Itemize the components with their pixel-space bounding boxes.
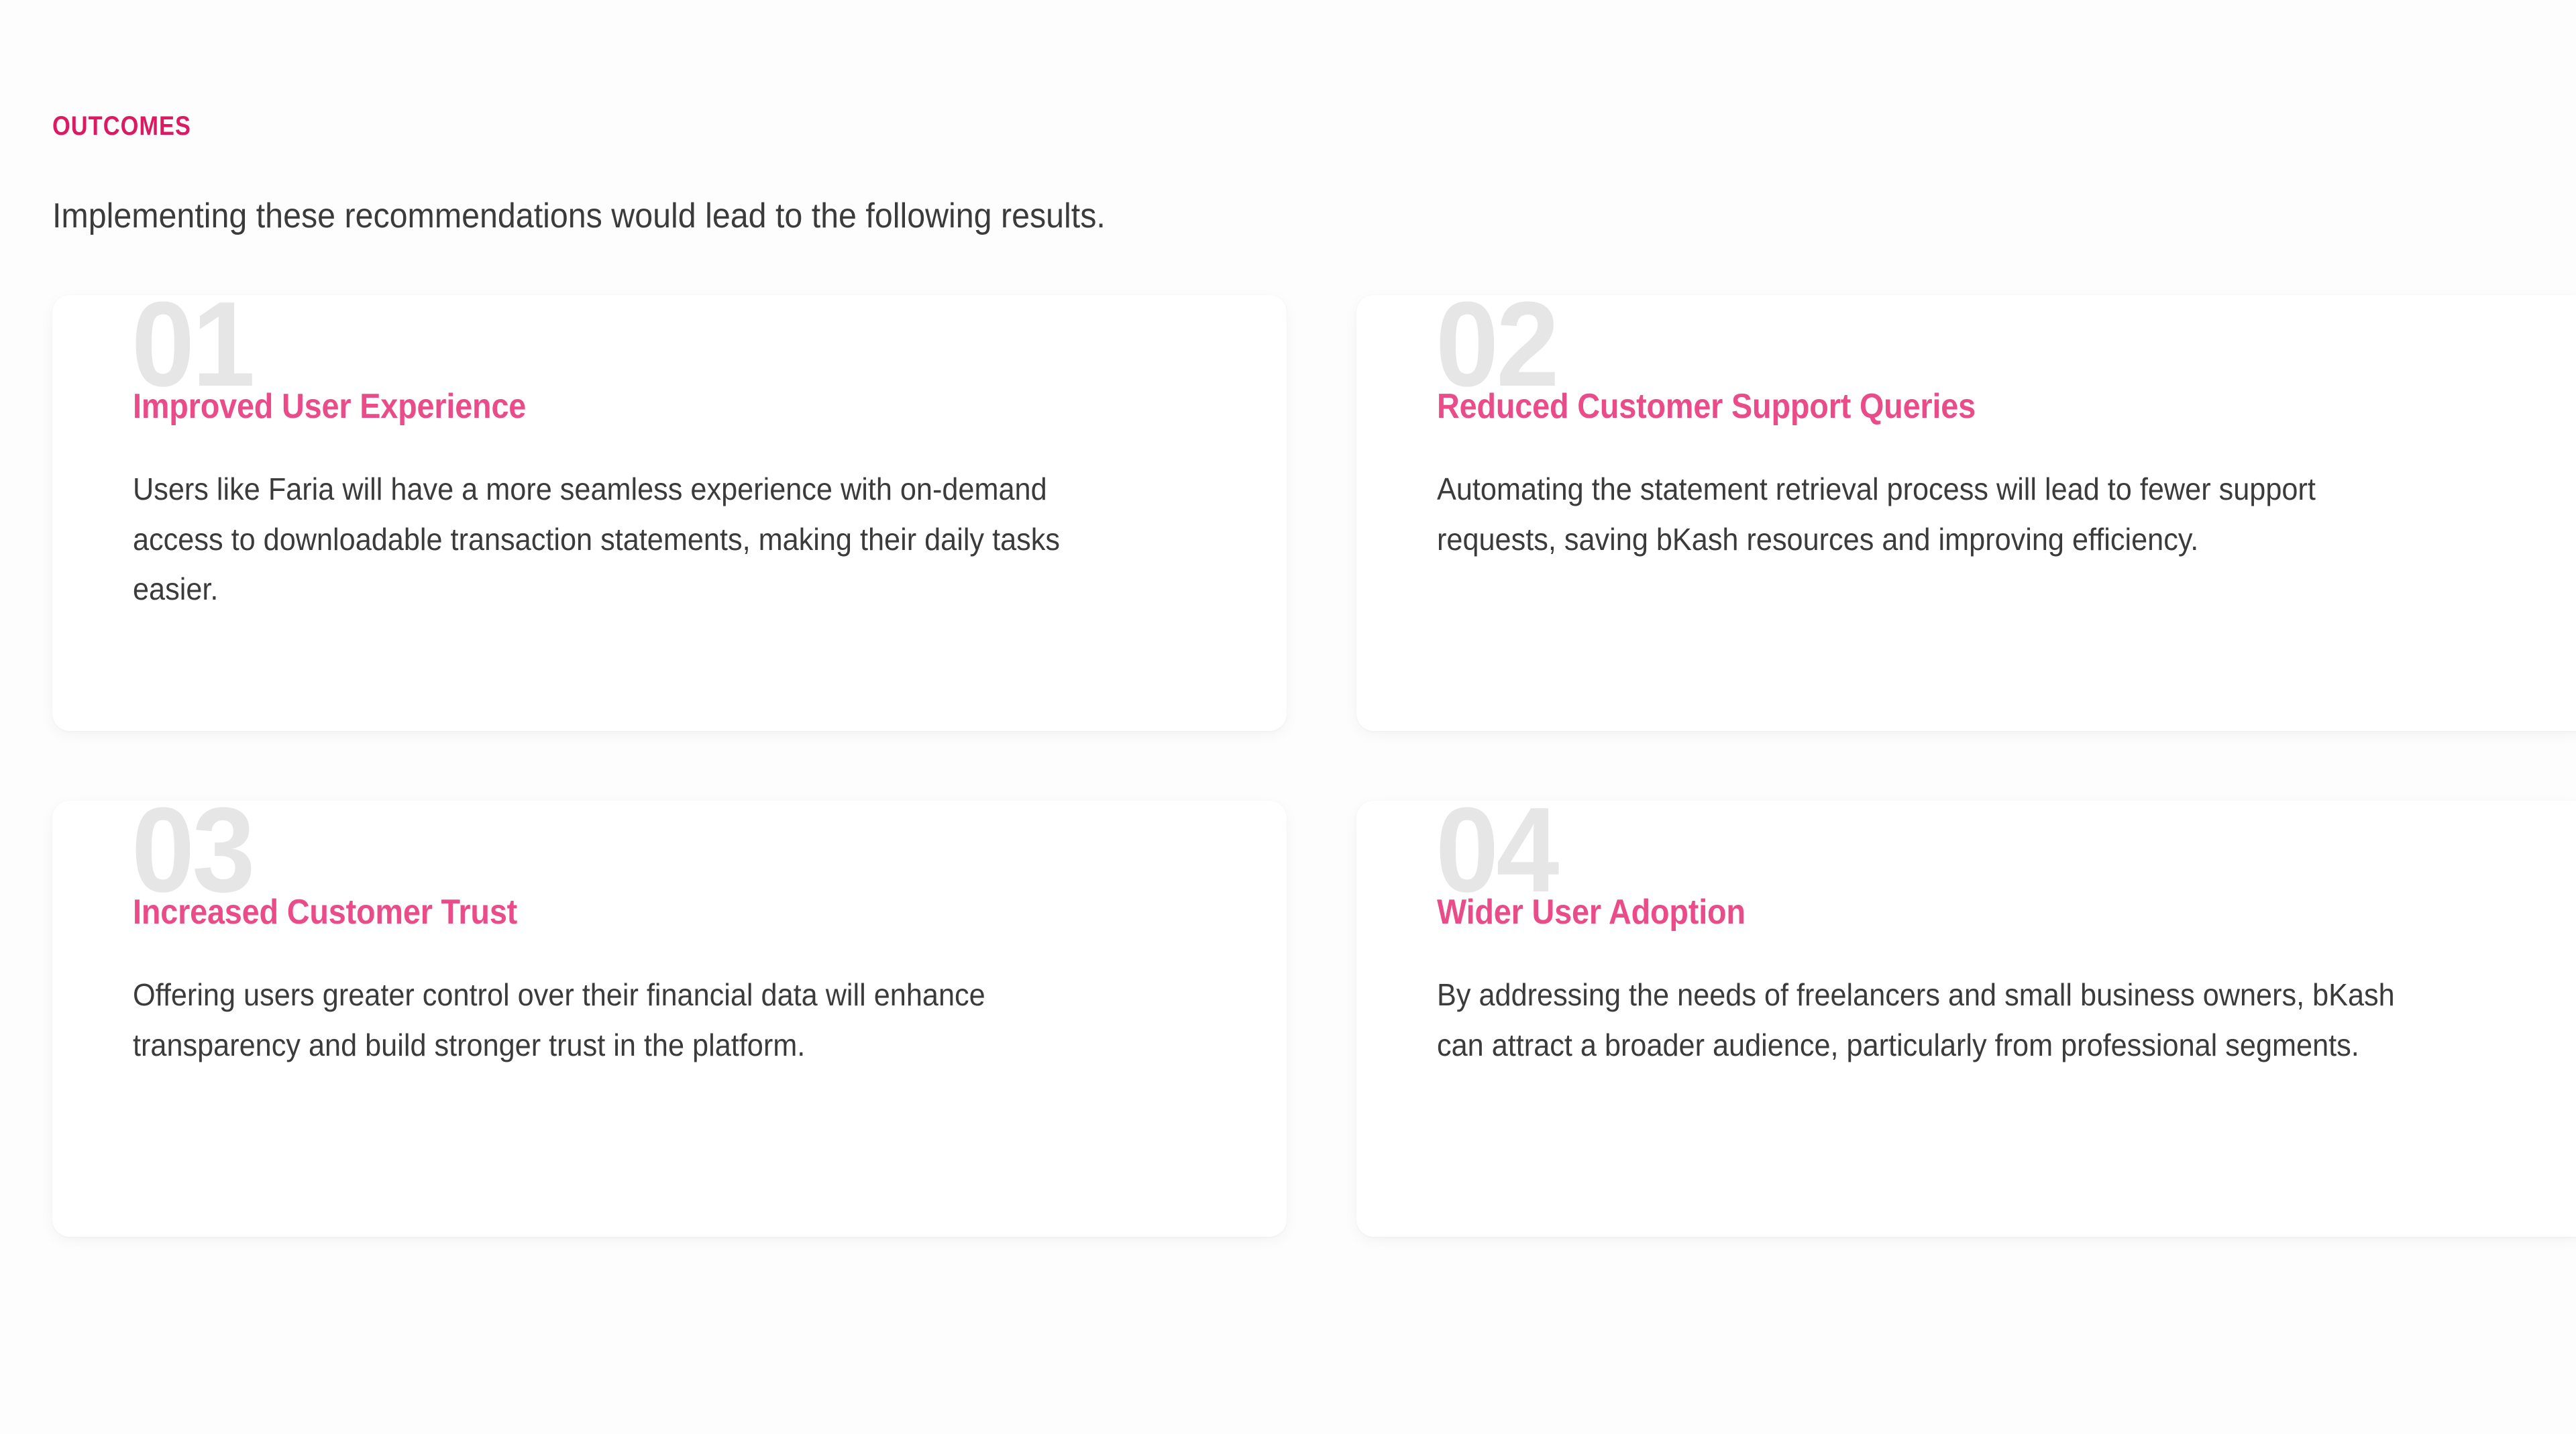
outcome-title-03: Increased Customer Trust — [133, 892, 1099, 932]
outcome-card-03: 03 Increased Customer Trust Offering use… — [52, 801, 1287, 1237]
outcome-title-01: Improved User Experience — [133, 386, 1099, 427]
outcome-body-04: By addressing the needs of freelancers a… — [1437, 970, 2420, 1070]
outcome-title-02: Reduced Customer Support Queries — [1437, 386, 2403, 427]
outcome-card-04: 04 Wider User Adoption By addressing the… — [1356, 801, 2576, 1237]
outcome-body-01: Users like Faria will have a more seamle… — [133, 464, 1116, 614]
section-eyebrow-label: OUTCOMES — [52, 111, 191, 142]
outcomes-section: OUTCOMES Implementing these recommendati… — [0, 0, 2576, 1434]
outcome-body-02: Automating the statement retrieval proce… — [1437, 464, 2420, 564]
outcome-card-01: 01 Improved User Experience Users like F… — [52, 295, 1287, 731]
outcomes-card-grid: 01 Improved User Experience Users like F… — [52, 295, 2524, 1237]
outcome-title-04: Wider User Adoption — [1437, 892, 2403, 932]
section-lead-paragraph: Implementing these recommendations would… — [52, 195, 1106, 238]
outcome-card-02: 02 Reduced Customer Support Queries Auto… — [1356, 295, 2576, 731]
outcome-body-03: Offering users greater control over thei… — [133, 970, 1116, 1070]
